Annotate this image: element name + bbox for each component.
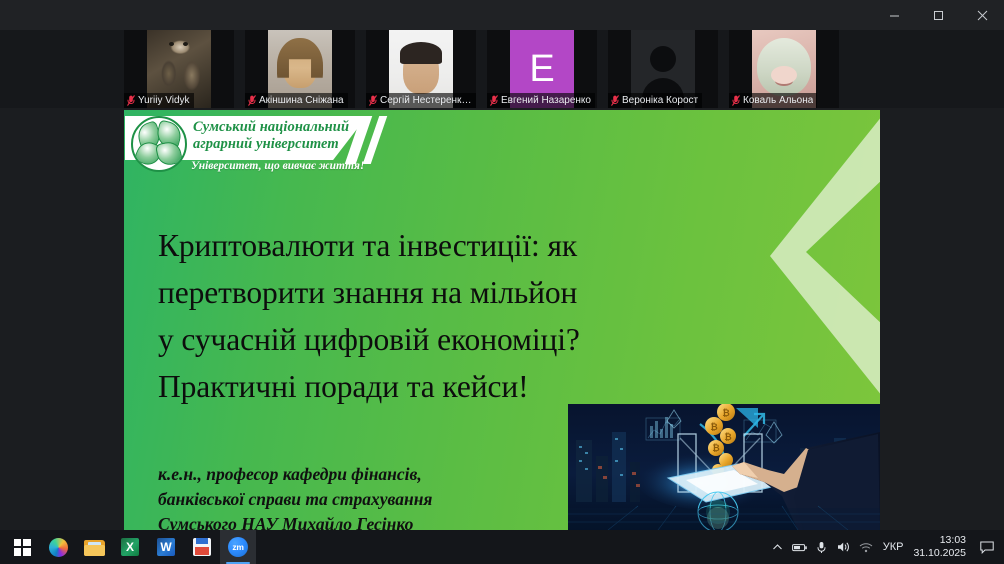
slide-title-line: Криптовалюти та інвестиції: як	[158, 222, 718, 269]
svg-text:₿: ₿	[712, 443, 719, 453]
notification-icon[interactable]	[974, 530, 1000, 564]
window-titlebar	[0, 0, 1004, 30]
participant-tile[interactable]: Сергій Нестеренко Л...	[366, 30, 476, 108]
start-button[interactable]	[4, 530, 40, 564]
participant-name-badge: Сергій Нестеренко Л...	[366, 93, 476, 108]
participant-name-badge: Вероніка Корост	[608, 93, 702, 108]
microphone-icon[interactable]	[811, 530, 833, 564]
participant-name-badge: Коваль Альона	[729, 93, 817, 108]
university-name: Сумський національний аграрний університ…	[193, 119, 349, 153]
svg-text:₿: ₿	[722, 408, 729, 418]
shared-slide[interactable]: Сумський національний аграрний університ…	[124, 110, 880, 530]
floppy-icon	[193, 538, 211, 556]
taskbar-apps: X W zm	[0, 530, 256, 564]
slide-title-line: Практичні поради та кейси!	[158, 363, 718, 410]
taskbar-item-word[interactable]: W	[148, 530, 184, 564]
zoom-icon: zm	[228, 537, 248, 557]
edge-icon	[49, 538, 68, 557]
slide-title: Криптовалюти та інвестиції: як перетвори…	[158, 222, 718, 410]
chevron-left-decoration	[754, 116, 880, 396]
participant-tile[interactable]: Вероніка Корост	[608, 30, 718, 108]
system-tray: УКР 13:03 31.10.2025	[767, 530, 1004, 564]
participant-tile[interactable]: Е Евгений Назаренко	[487, 30, 597, 108]
mic-muted-icon	[732, 95, 740, 106]
taskbar-item-save-app[interactable]	[184, 530, 220, 564]
participant-name: Сергій Нестеренко Л...	[380, 94, 472, 107]
university-tagline: Університет, що вивчає життя!	[191, 160, 364, 172]
slide-subtitle-line: банківської справи та страхування	[158, 487, 588, 512]
volume-icon[interactable]	[833, 530, 855, 564]
mic-muted-icon	[248, 95, 256, 106]
wifi-icon[interactable]	[855, 530, 877, 564]
taskbar-item-edge[interactable]	[40, 530, 76, 564]
participant-filmstrip: Yuriiy Vidyk Акіншина Сніжана	[0, 30, 1004, 108]
windows-taskbar: X W zm	[0, 530, 1004, 564]
word-icon: W	[157, 538, 175, 556]
participant-name: Акіншина Сніжана	[259, 94, 344, 107]
university-emblem-icon	[131, 116, 187, 172]
taskbar-item-zoom[interactable]: zm	[220, 530, 256, 564]
svg-text:₿: ₿	[724, 432, 731, 442]
university-logo-banner: Сумський національний аграрний університ…	[125, 116, 383, 176]
participant-name: Вероніка Корост	[622, 94, 698, 107]
slide-title-line: перетворити знання на мільйон	[158, 269, 718, 316]
slide-subtitle-line: Сумського НАУ Михайло Гесінко	[158, 512, 588, 530]
participant-tile[interactable]: Yuriiy Vidyk	[124, 30, 234, 108]
slide-subtitle: к.е.н., професор кафедри фінансів, банкі…	[158, 462, 588, 530]
taskbar-item-excel[interactable]: X	[112, 530, 148, 564]
mic-muted-icon	[490, 95, 498, 106]
slide-title-line: у сучасній цифровій економіці?	[158, 316, 718, 363]
clock-date: 31.10.2025	[913, 547, 966, 560]
zoom-meeting-window: Yuriiy Vidyk Акіншина Сніжана	[0, 30, 1004, 530]
minimize-button[interactable]	[872, 0, 916, 30]
close-button[interactable]	[960, 0, 1004, 30]
mic-muted-icon	[127, 95, 135, 106]
svg-text:₿: ₿	[710, 422, 717, 432]
mic-muted-icon	[369, 95, 377, 106]
university-name-line1: Сумський національний	[193, 119, 349, 136]
participant-name-badge: Евгений Назаренко	[487, 93, 595, 108]
participant-name: Коваль Альона	[743, 94, 813, 107]
taskbar-item-file-explorer[interactable]	[76, 530, 112, 564]
battery-icon[interactable]	[789, 530, 811, 564]
language-indicator[interactable]: УКР	[877, 541, 912, 553]
participant-tile[interactable]: Коваль Альона	[729, 30, 839, 108]
mic-muted-icon	[611, 95, 619, 106]
participant-tile[interactable]: Акіншина Сніжана	[245, 30, 355, 108]
participant-name: Yuriiy Vidyk	[138, 94, 190, 107]
folder-icon	[84, 539, 105, 556]
clock-time: 13:03	[940, 534, 966, 547]
slide-subtitle-line: к.е.н., професор кафедри фінансів,	[158, 462, 588, 487]
windows-logo-icon	[14, 539, 31, 556]
chevron-up-icon[interactable]	[767, 530, 789, 564]
crypto-illustration-image: ₿₿ ₿₿	[568, 404, 880, 530]
excel-icon: X	[121, 538, 139, 556]
clock[interactable]: 13:03 31.10.2025	[911, 534, 974, 560]
university-name-line2: аграрний університет	[193, 136, 349, 153]
maximize-button[interactable]	[916, 0, 960, 30]
participant-name-badge: Акіншина Сніжана	[245, 93, 348, 108]
participant-name: Евгений Назаренко	[501, 94, 591, 107]
screen: Yuriiy Vidyk Акіншина Сніжана	[0, 0, 1004, 564]
participant-name-badge: Yuriiy Vidyk	[124, 93, 194, 108]
